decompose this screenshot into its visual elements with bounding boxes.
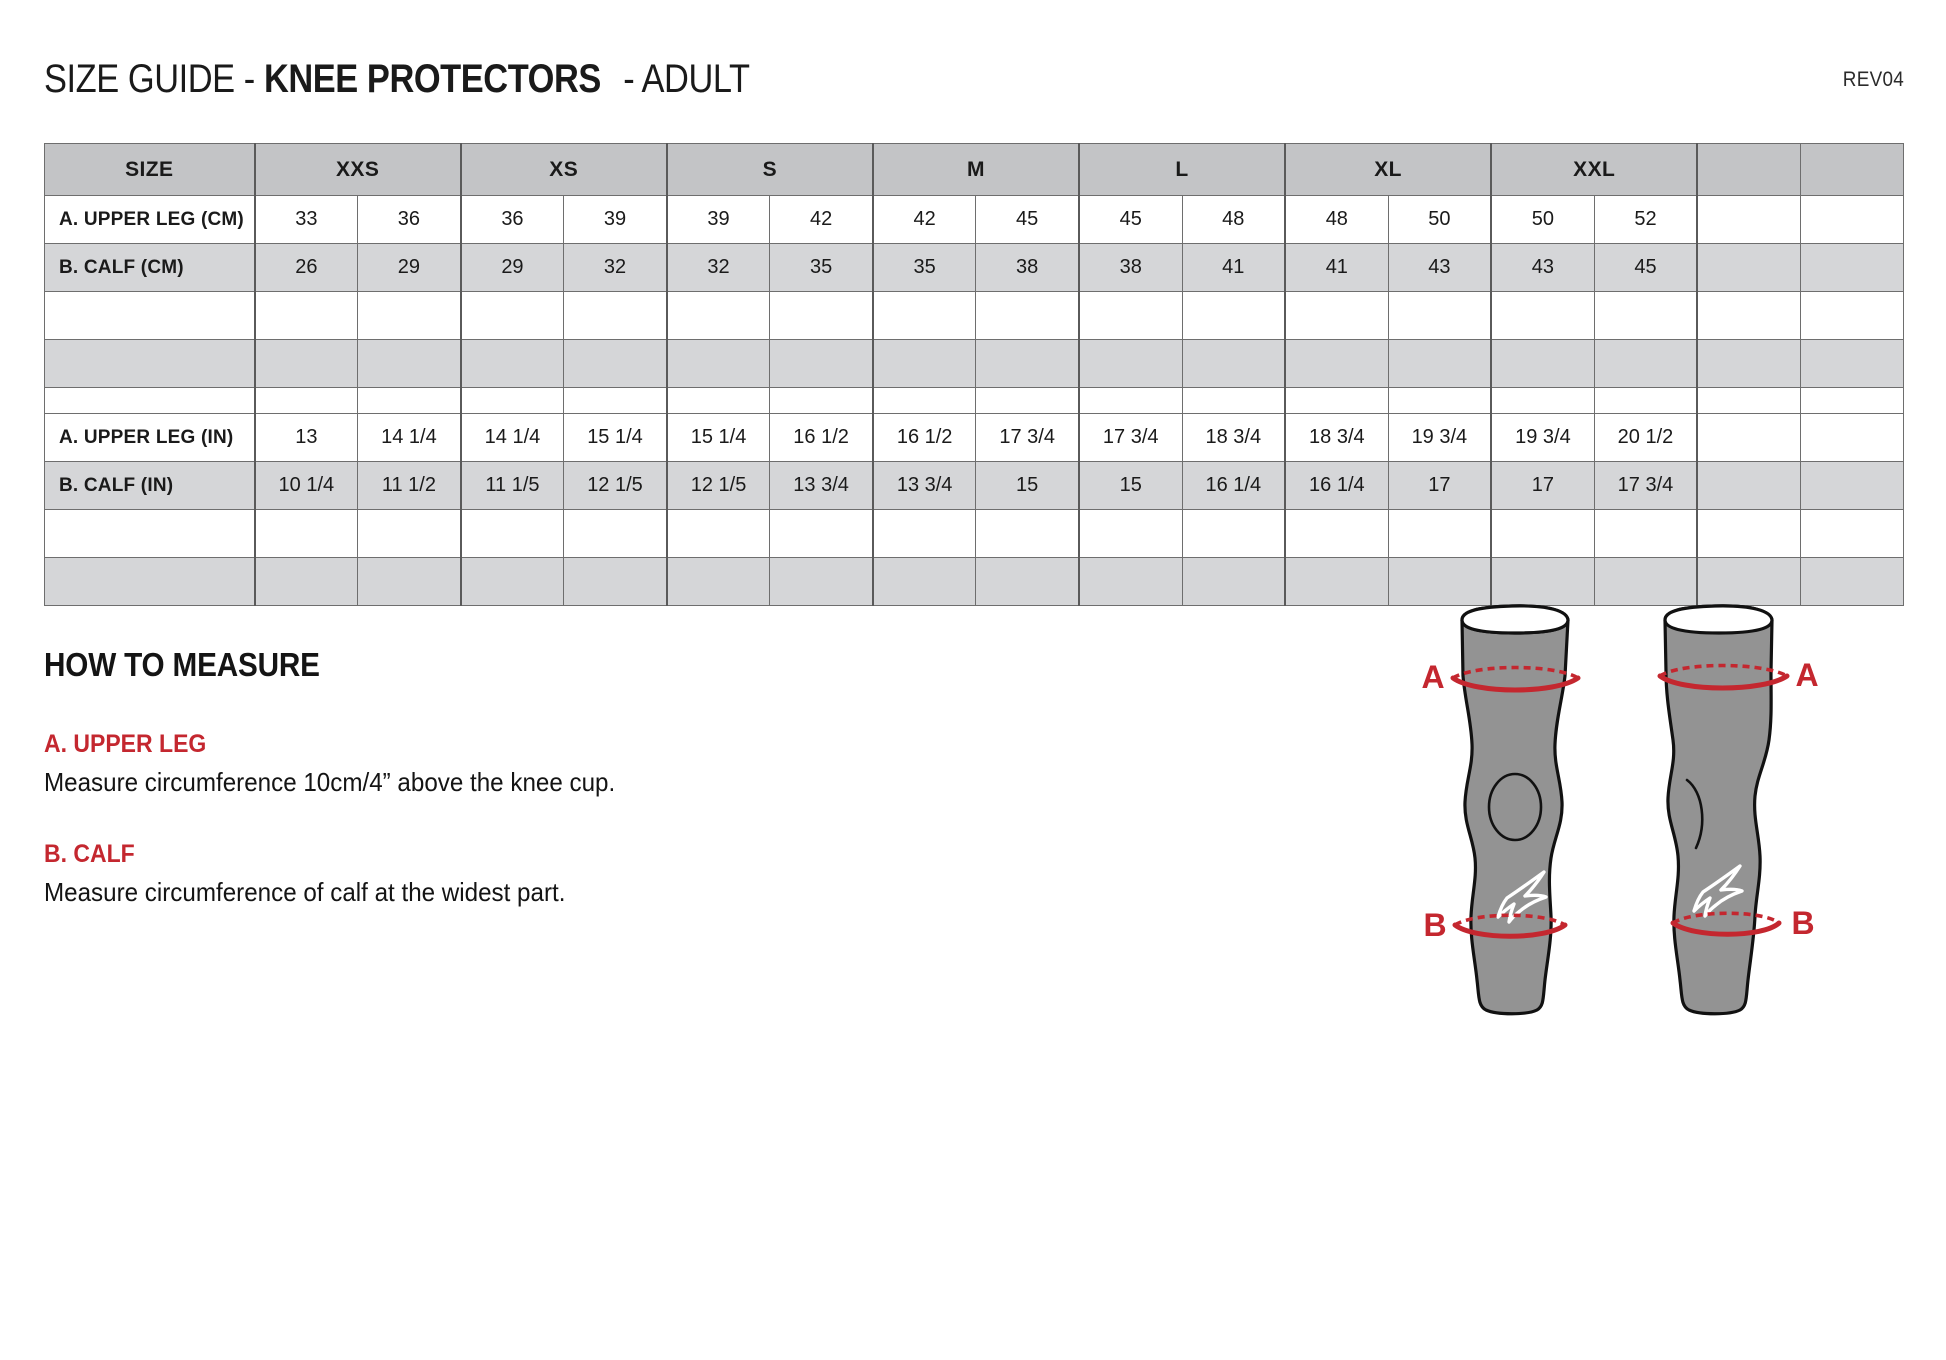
- revision-label: REV04: [1843, 68, 1904, 92]
- table-cell: [1079, 510, 1182, 558]
- table-cell: [976, 292, 1079, 340]
- table-cell: [1800, 340, 1903, 388]
- left-leg-figure: A B: [1421, 606, 1578, 1014]
- table-cell: [1491, 340, 1594, 388]
- table-cell: [1697, 340, 1800, 388]
- table-cell: [770, 292, 873, 340]
- table-cell: 43: [1388, 244, 1491, 292]
- table-cell: [1285, 510, 1388, 558]
- table-cell: [461, 340, 564, 388]
- table-row: A. UPPER LEG (IN)1314 1/414 1/415 1/415 …: [45, 414, 1904, 462]
- table-cell: 36: [358, 196, 461, 244]
- table-cell: 42: [873, 196, 976, 244]
- table-cell: [770, 340, 873, 388]
- table-cell: 43: [1491, 244, 1594, 292]
- title-prefix: SIZE GUIDE -: [44, 57, 264, 101]
- table-cell: 15: [976, 462, 1079, 510]
- table-cell: [873, 558, 976, 606]
- table-cell: 17: [1388, 462, 1491, 510]
- table-cell: [1079, 340, 1182, 388]
- table-cell: 39: [667, 196, 770, 244]
- table-cell: [667, 340, 770, 388]
- table-cell: 32: [564, 244, 667, 292]
- table-cell: 52: [1594, 196, 1697, 244]
- table-cell: [1697, 292, 1800, 340]
- measure-item-upper-leg: A. UPPER LEG Measure circumference 10cm/…: [44, 730, 864, 798]
- table-header-row: SIZEXXSXSSMLXLXXL: [45, 144, 1904, 196]
- table-cell: [461, 510, 564, 558]
- table-cell: 11 1/2: [358, 462, 461, 510]
- title-product: KNEE PROTECTORS: [264, 57, 601, 101]
- table-cell: [1697, 462, 1800, 510]
- table-cell: 10 1/4: [255, 462, 358, 510]
- leg-measurement-diagram: A B A B: [1415, 580, 1855, 1040]
- table-cell: [873, 292, 976, 340]
- table-cell: 14 1/4: [461, 414, 564, 462]
- table-cell: [976, 510, 1079, 558]
- table-cell: 11 1/5: [461, 462, 564, 510]
- document-header: SIZE GUIDE - KNEE PROTECTORS- ADULT REV0…: [44, 56, 1904, 108]
- table-cell: [873, 510, 976, 558]
- table-cell: [1594, 510, 1697, 558]
- table-cell: 33: [255, 196, 358, 244]
- title-suffix: - ADULT: [623, 57, 749, 101]
- table-cell: [255, 292, 358, 340]
- table-cell: [1079, 558, 1182, 606]
- table-cell: [667, 558, 770, 606]
- table-cell: 15 1/4: [564, 414, 667, 462]
- table-cell: 16 1/2: [770, 414, 873, 462]
- table-cell: [1800, 510, 1903, 558]
- table-section-spacer: [45, 388, 1904, 414]
- row-label: [45, 510, 255, 558]
- measure-text-calf: Measure circumference of calf at the wid…: [44, 877, 807, 908]
- table-cell: [770, 558, 873, 606]
- table-cell: [1594, 292, 1697, 340]
- table-cell: 16 1/4: [1285, 462, 1388, 510]
- table-cell: [1182, 558, 1285, 606]
- right-leg-figure: A B: [1660, 606, 1819, 1014]
- column-header-s: S: [667, 144, 873, 196]
- table-cell: 17 3/4: [1079, 414, 1182, 462]
- table-cell: 50: [1491, 196, 1594, 244]
- table-cell: 13 3/4: [770, 462, 873, 510]
- table-cell: [564, 292, 667, 340]
- table-row: A. UPPER LEG (CM)33363639394242454548485…: [45, 196, 1904, 244]
- table-cell: [976, 340, 1079, 388]
- table-cell: 17 3/4: [976, 414, 1079, 462]
- table-cell: 35: [770, 244, 873, 292]
- size-guide-page: SIZE GUIDE - KNEE PROTECTORS- ADULT REV0…: [0, 0, 1946, 1360]
- table-cell: [255, 558, 358, 606]
- table-cell: 18 3/4: [1182, 414, 1285, 462]
- table-cell: [873, 340, 976, 388]
- row-label: A. UPPER LEG (IN): [45, 414, 255, 462]
- left-label-b: B: [1423, 907, 1446, 943]
- left-label-a: A: [1421, 659, 1444, 695]
- table-cell: 19 3/4: [1491, 414, 1594, 462]
- table-cell: [1697, 196, 1800, 244]
- table-cell: [1697, 414, 1800, 462]
- table-cell: [461, 292, 564, 340]
- right-leg-top-fill: [1665, 606, 1772, 633]
- table-cell: 18 3/4: [1285, 414, 1388, 462]
- row-label: [45, 292, 255, 340]
- table-cell: [1800, 462, 1903, 510]
- column-header-size: SIZE: [45, 144, 255, 196]
- row-label: [45, 558, 255, 606]
- table-cell: 45: [1079, 196, 1182, 244]
- table-cell: [1800, 414, 1903, 462]
- table-cell: 19 3/4: [1388, 414, 1491, 462]
- table-cell: 50: [1388, 196, 1491, 244]
- table-row: [45, 510, 1904, 558]
- table-cell: 26: [255, 244, 358, 292]
- table-cell: [358, 558, 461, 606]
- measure-item-calf: B. CALF Measure circumference of calf at…: [44, 840, 864, 908]
- table-cell: 17: [1491, 462, 1594, 510]
- table-row: [45, 340, 1904, 388]
- table-cell: 32: [667, 244, 770, 292]
- table-cell: [1182, 510, 1285, 558]
- table-cell: [255, 340, 358, 388]
- row-label: [45, 340, 255, 388]
- table-cell: [1594, 340, 1697, 388]
- table-cell: [1491, 292, 1594, 340]
- left-leg-top-fill: [1462, 606, 1568, 633]
- table-row: B. CALF (IN)10 1/411 1/211 1/512 1/512 1…: [45, 462, 1904, 510]
- table-cell: [1388, 510, 1491, 558]
- column-header-xs: XS: [461, 144, 667, 196]
- table-cell: 35: [873, 244, 976, 292]
- how-to-measure-section: HOW TO MEASURE A. UPPER LEG Measure circ…: [44, 646, 864, 950]
- table-cell: [1182, 292, 1285, 340]
- column-header-l: L: [1079, 144, 1285, 196]
- table-cell: 13: [255, 414, 358, 462]
- table-cell: [1388, 292, 1491, 340]
- table-cell: [770, 510, 873, 558]
- table-cell: 29: [461, 244, 564, 292]
- measure-heading-upper-leg: A. UPPER LEG: [44, 730, 798, 759]
- table-cell: 41: [1285, 244, 1388, 292]
- column-header-blank-2: [1800, 144, 1903, 196]
- table-cell: [1285, 340, 1388, 388]
- table-cell: [1697, 510, 1800, 558]
- table-cell: 16 1/4: [1182, 462, 1285, 510]
- column-header-xxs: XXS: [255, 144, 461, 196]
- left-knee-cup: [1489, 774, 1541, 840]
- table-cell: [1285, 292, 1388, 340]
- table-cell: [255, 510, 358, 558]
- table-cell: [564, 558, 667, 606]
- table-cell: 38: [1079, 244, 1182, 292]
- table-cell: [1182, 340, 1285, 388]
- table-cell: [1800, 292, 1903, 340]
- table-cell: [461, 558, 564, 606]
- table-cell: [564, 340, 667, 388]
- table-cell: [358, 340, 461, 388]
- table-cell: 48: [1182, 196, 1285, 244]
- table-cell: [1285, 558, 1388, 606]
- table-cell: [667, 292, 770, 340]
- table-cell: 13 3/4: [873, 462, 976, 510]
- table-cell: 48: [1285, 196, 1388, 244]
- size-chart-table: SIZEXXSXSSMLXLXXL A. UPPER LEG (CM)33363…: [44, 143, 1904, 606]
- table-cell: 16 1/2: [873, 414, 976, 462]
- row-label: A. UPPER LEG (CM): [45, 196, 255, 244]
- table-cell: 38: [976, 244, 1079, 292]
- table-cell: 14 1/4: [358, 414, 461, 462]
- row-label: B. CALF (CM): [45, 244, 255, 292]
- table-cell: 17 3/4: [1594, 462, 1697, 510]
- table-cell: [1697, 244, 1800, 292]
- measure-heading-calf: B. CALF: [44, 840, 798, 869]
- table-cell: 41: [1182, 244, 1285, 292]
- table-cell: 36: [461, 196, 564, 244]
- column-header-m: M: [873, 144, 1079, 196]
- table-row: B. CALF (CM)2629293232353538384141434345: [45, 244, 1904, 292]
- table-cell: [1800, 196, 1903, 244]
- table-cell: 39: [564, 196, 667, 244]
- table-cell: [1800, 244, 1903, 292]
- table-cell: 29: [358, 244, 461, 292]
- column-header-blank-1: [1697, 144, 1800, 196]
- column-header-xl: XL: [1285, 144, 1491, 196]
- table-cell: [358, 292, 461, 340]
- right-label-a: A: [1795, 657, 1818, 693]
- table-cell: 15: [1079, 462, 1182, 510]
- table-cell: 42: [770, 196, 873, 244]
- table-cell: [1388, 340, 1491, 388]
- table-cell: 15 1/4: [667, 414, 770, 462]
- table-cell: 12 1/5: [564, 462, 667, 510]
- table-cell: 45: [1594, 244, 1697, 292]
- table-cell: [1079, 292, 1182, 340]
- column-header-xxl: XXL: [1491, 144, 1697, 196]
- measure-text-upper-leg: Measure circumference 10cm/4” above the …: [44, 767, 807, 798]
- right-label-b: B: [1791, 905, 1814, 941]
- table-cell: [976, 558, 1079, 606]
- table-cell: 12 1/5: [667, 462, 770, 510]
- table-cell: 45: [976, 196, 1079, 244]
- table-cell: [1491, 510, 1594, 558]
- page-title: SIZE GUIDE - KNEE PROTECTORS- ADULT: [44, 56, 750, 102]
- table-row: [45, 292, 1904, 340]
- row-label: B. CALF (IN): [45, 462, 255, 510]
- table-cell: 20 1/2: [1594, 414, 1697, 462]
- table-cell: [358, 510, 461, 558]
- table-cell: [564, 510, 667, 558]
- table-cell: [667, 510, 770, 558]
- how-to-measure-title: HOW TO MEASURE: [44, 646, 782, 684]
